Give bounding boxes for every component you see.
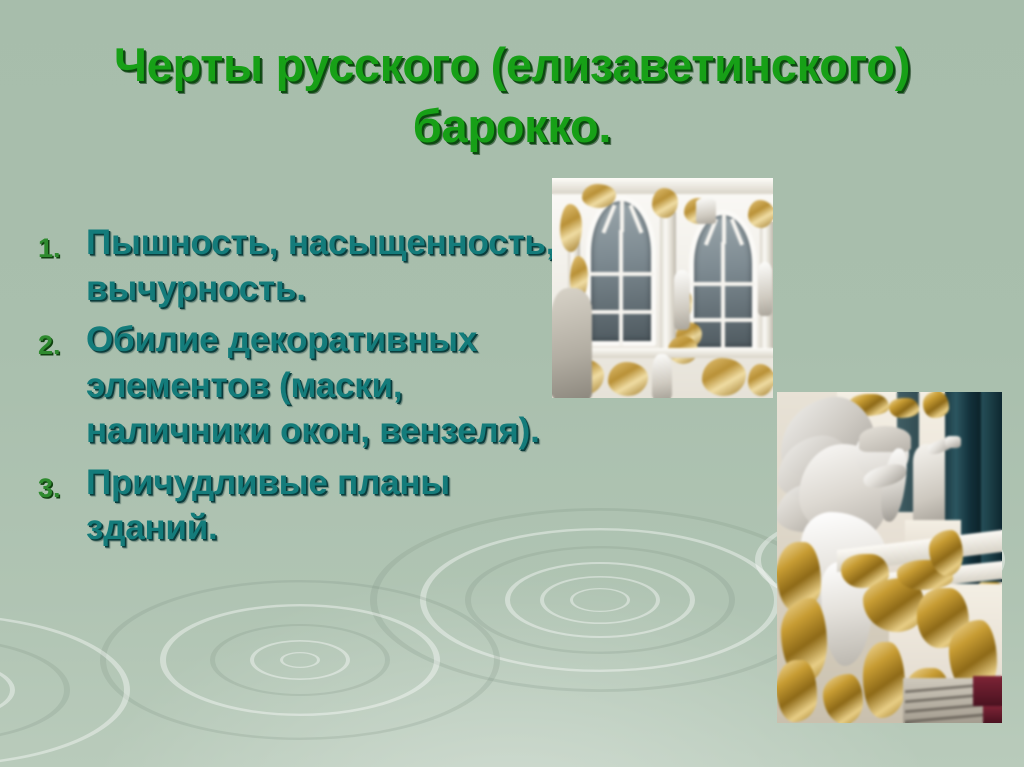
list-item-text: Обилие декоративных элементов (маски, на… [86, 317, 580, 454]
presentation-slide: Черты русского (елизаветинского) барокко… [0, 0, 1024, 767]
list-item-text: Причудливые планы зданий. [86, 460, 580, 551]
list-item: 3. Причудливые планы зданий. [20, 460, 580, 551]
list-item-number: 1. [20, 220, 86, 269]
angel-statue-rococo-photo [777, 392, 1002, 723]
baroque-palace-facade-photo [552, 178, 773, 398]
list-item-text: Пышность, насыщенность, вычурность. [86, 220, 580, 311]
slide-title: Черты русского (елизаветинского) барокко… [10, 34, 1014, 156]
list-item-number: 2. [20, 317, 86, 366]
list-item: 1. Пышность, насыщенность, вычурность. [20, 220, 580, 311]
list-item-number: 3. [20, 460, 86, 509]
features-list: 1. Пышность, насыщенность, вычурность. 2… [20, 220, 580, 557]
list-item: 2. Обилие декоративных элементов (маски,… [20, 317, 580, 454]
